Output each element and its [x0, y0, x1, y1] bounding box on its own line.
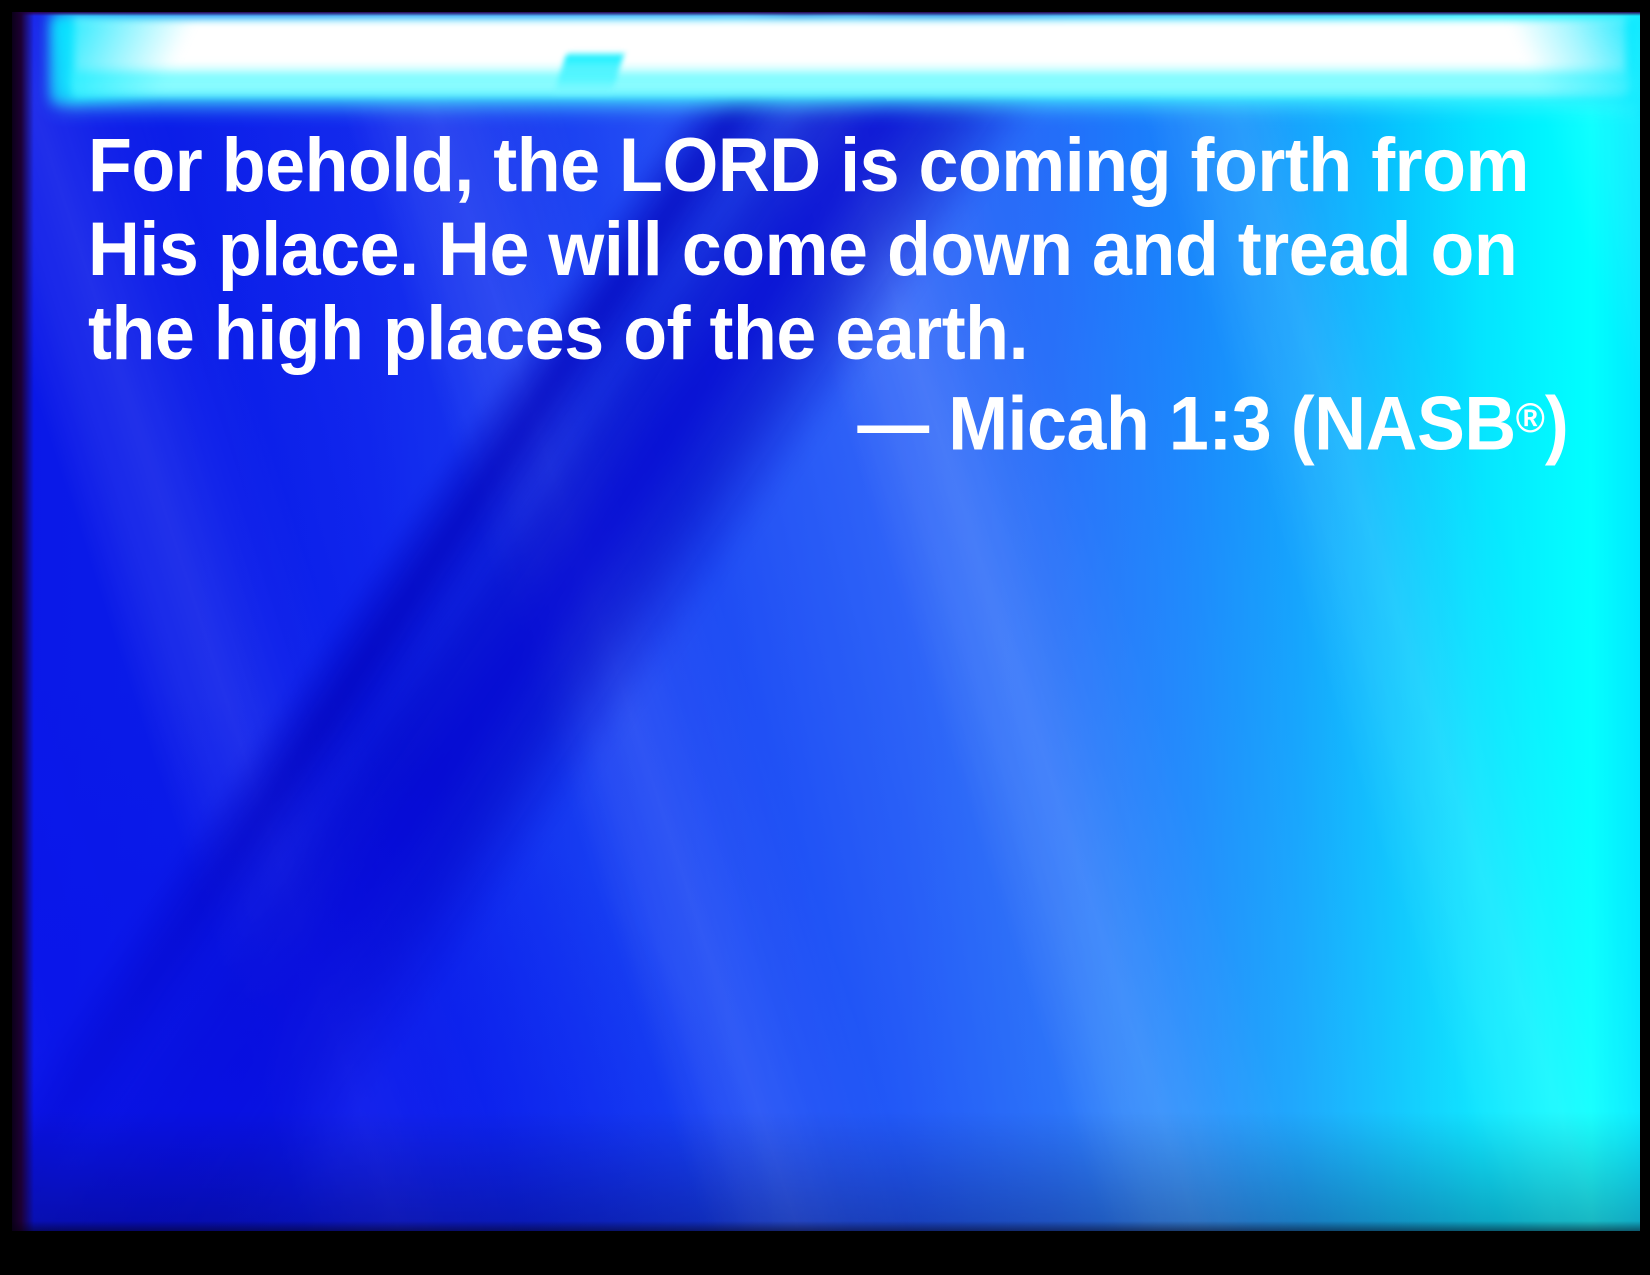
- banner-left-bevel: [52, 16, 262, 102]
- verse-line-1: For behold, the LORD is coming forth fro…: [88, 124, 1529, 208]
- banner-right-bevel: [1468, 16, 1638, 106]
- background-bottom-vignette: [12, 1111, 1640, 1231]
- verse-citation-row: — Micah 1:3 (NASB®): [88, 376, 1568, 467]
- frame-border-top: [0, 0, 1650, 12]
- verse-line-3: the high places of the earth.: [88, 292, 1529, 376]
- frame-border-left: [0, 0, 12, 1275]
- citation-reference-text: — Micah 1:3 (NASB: [857, 382, 1515, 467]
- registered-trademark-icon: ®: [1515, 394, 1544, 441]
- banner-cyan-edge: [72, 66, 1630, 96]
- verse-slide: For behold, the LORD is coming forth fro…: [0, 0, 1650, 1275]
- verse-citation: — Micah 1:3 (NASB®): [857, 376, 1568, 467]
- citation-close-paren: ): [1545, 382, 1568, 467]
- frame-border-bottom: [0, 1231, 1650, 1275]
- banner-notch: [554, 54, 624, 94]
- frame-border-right: [1640, 0, 1650, 1275]
- verse-body: For behold, the LORD is coming forth fro…: [88, 124, 1613, 376]
- verse-line-2: His place. He will come down and tread o…: [88, 208, 1529, 292]
- top-light-banner: [12, 12, 1640, 108]
